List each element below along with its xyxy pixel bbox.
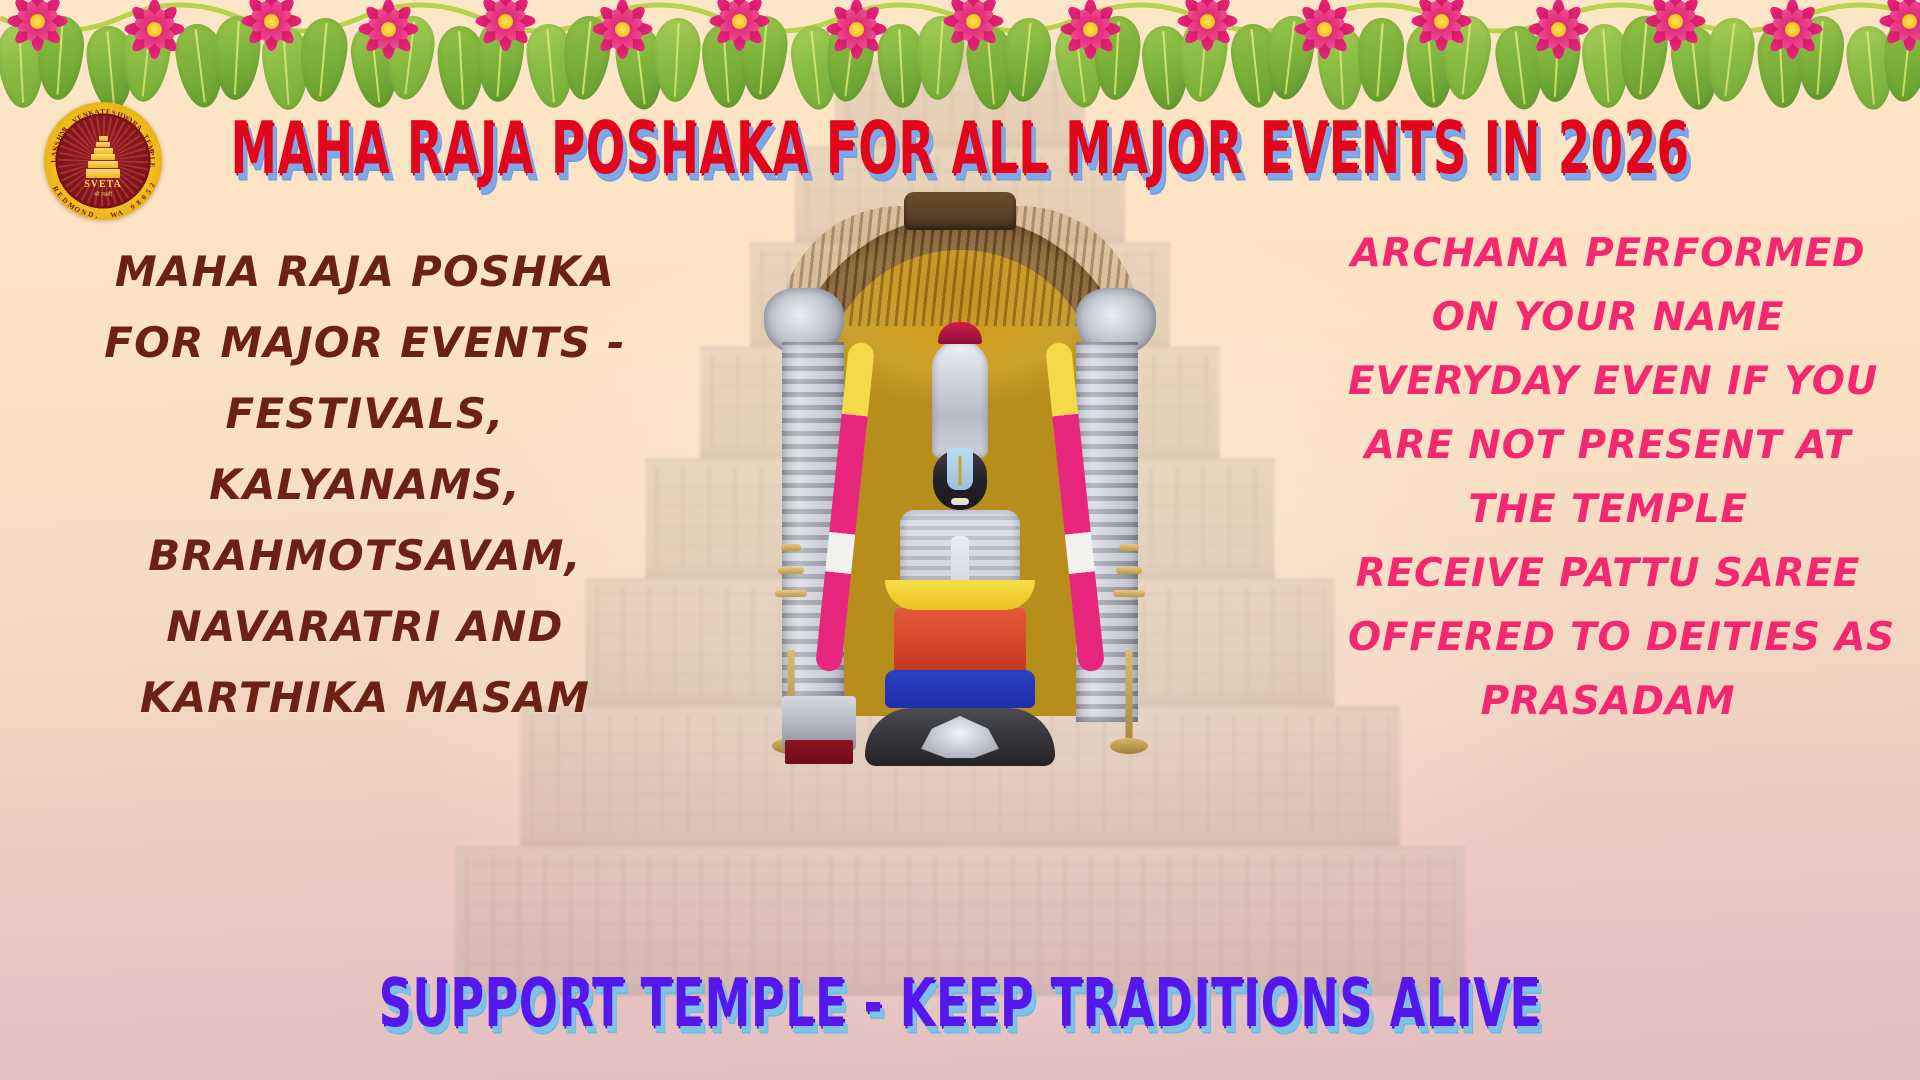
mango-leaf-icon bbox=[1404, 22, 1457, 110]
promotional-banner: LAKSHMI VENKATESHWARA TEMPLE REDMOND, WA… bbox=[0, 0, 1920, 1080]
banner-headline: MAHA RAJA POSHAKA FOR ALL MAJOR EVENTS I… bbox=[115, 112, 1805, 184]
mango-leaf-icon bbox=[652, 17, 702, 103]
idol-blue-cloth bbox=[885, 670, 1035, 708]
mango-leaf-icon bbox=[1756, 23, 1806, 109]
text-line: BRAHMOTSAVAM, bbox=[92, 520, 638, 591]
mango-leaf-icon bbox=[119, 16, 174, 104]
text-line: ARE NOT PRESENT AT bbox=[1348, 414, 1868, 478]
flower-icon bbox=[474, 0, 536, 52]
mango-leaf-icon bbox=[1794, 14, 1846, 101]
mango-leaf-icon bbox=[1140, 24, 1192, 111]
flower-icon bbox=[357, 0, 419, 60]
mango-leaf-icon bbox=[524, 22, 577, 110]
mango-leaf-icon bbox=[260, 24, 312, 111]
flower-icon bbox=[591, 0, 653, 60]
mango-leaf-icon bbox=[700, 22, 752, 109]
text-line: NAVARATRI AND bbox=[92, 591, 638, 662]
mango-leaf-icon bbox=[0, 23, 46, 109]
mango-leaf-icon bbox=[348, 22, 403, 110]
mango-leaf-icon bbox=[1439, 14, 1494, 102]
mango-leaf-icon bbox=[1177, 16, 1230, 104]
flower-icon bbox=[1410, 0, 1472, 52]
text-line: PRASADAM bbox=[1348, 670, 1868, 734]
mango-leaf-icon bbox=[999, 16, 1054, 104]
mango-leaf-icon bbox=[822, 15, 878, 104]
flower-icon bbox=[1293, 0, 1355, 60]
garland-string-icon bbox=[0, 0, 1920, 46]
text-line: MAHA RAJA POSHKA bbox=[92, 236, 638, 307]
mango-leaf-icon bbox=[84, 24, 137, 112]
mango-leaf-icon bbox=[559, 14, 614, 102]
silver-offering-box bbox=[782, 696, 856, 750]
mango-leaf-icon bbox=[34, 14, 86, 101]
mango-leaf-icon bbox=[1228, 22, 1283, 110]
text-line: ON YOUR NAME bbox=[1348, 286, 1868, 350]
mango-leaf-icon bbox=[1492, 23, 1548, 112]
left-text-block: MAHA RAJA POSHKAFOR MAJOR EVENTS -FESTIV… bbox=[92, 236, 638, 733]
mango-leaf-icon bbox=[1316, 25, 1366, 111]
mango-leaf-icon bbox=[1580, 22, 1632, 109]
banner-slogan: SUPPORT TEMPLE - KEEP TRADITIONS ALIVE bbox=[96, 971, 1824, 1038]
idol-namam-icon bbox=[947, 448, 973, 490]
mango-leaf-icon bbox=[172, 21, 228, 110]
arch-crown-ornament bbox=[904, 192, 1016, 230]
flower-icon bbox=[123, 0, 185, 60]
flower-icon bbox=[240, 0, 302, 52]
mango-leaf-icon bbox=[1052, 21, 1108, 110]
mango-leaf-icon bbox=[382, 13, 438, 102]
idol-red-dhoti bbox=[894, 608, 1026, 674]
mango-leaf-icon bbox=[474, 16, 526, 103]
mango-leaf-icon bbox=[1879, 16, 1920, 104]
text-line: ARCHANA PERFORMED bbox=[1348, 222, 1868, 286]
text-line: KALYANAMS, bbox=[92, 449, 638, 520]
mango-leaf-icon bbox=[1668, 24, 1723, 112]
mango-leaf-icon bbox=[1262, 13, 1318, 102]
temple-logo-seal[interactable]: LAKSHMI VENKATESHWARA TEMPLE REDMOND, WA… bbox=[44, 102, 162, 220]
flower-icon bbox=[1527, 0, 1589, 60]
text-line: OFFERED TO DEITIES AS bbox=[1348, 606, 1868, 670]
mango-leaf-icon bbox=[1617, 14, 1670, 102]
mango-leaf-icon bbox=[788, 24, 843, 112]
mango-leaf-icon bbox=[914, 14, 966, 101]
mango-leaf-icon bbox=[737, 14, 790, 102]
text-line: FOR MAJOR EVENTS - bbox=[92, 307, 638, 378]
oil-lamp-right bbox=[1112, 544, 1146, 754]
flower-icon bbox=[1761, 0, 1823, 60]
logo-inner-disc: SVETA श्री लक्ष्मी bbox=[58, 116, 148, 206]
logo-center-subtext: श्री लक्ष्मी bbox=[58, 193, 148, 199]
mango-leaf-icon bbox=[876, 23, 926, 109]
mango-leaf-icon bbox=[1532, 17, 1582, 103]
mango-leaf-icon bbox=[212, 15, 262, 101]
flower-icon bbox=[1878, 0, 1920, 52]
flower-icon bbox=[825, 0, 887, 60]
text-line: KARTHIKA MASAM bbox=[92, 662, 638, 733]
mango-leaf-icon bbox=[1092, 15, 1142, 101]
mango-leaf-icon bbox=[436, 25, 486, 111]
text-line: EVERYDAY EVEN IF YOU bbox=[1348, 350, 1868, 414]
deity-photo bbox=[760, 192, 1160, 772]
flower-icon bbox=[6, 0, 68, 52]
idol-crown bbox=[932, 340, 988, 458]
garuda-vahana-base bbox=[865, 708, 1055, 766]
flower-icon bbox=[708, 0, 770, 52]
right-text-block: ARCHANA PERFORMEDON YOUR NAMEEVERYDAY EV… bbox=[1348, 222, 1868, 734]
mango-leaf-icon bbox=[1702, 15, 1758, 104]
mango-leaf-icon bbox=[612, 23, 668, 112]
flower-icon bbox=[1644, 0, 1706, 52]
logo-center-text: SVETA bbox=[58, 180, 148, 190]
toran-garland-border bbox=[0, 0, 1920, 92]
mango-leaf-icon bbox=[1354, 16, 1406, 103]
mango-leaf-icon bbox=[1844, 24, 1897, 112]
mango-leaf-icon bbox=[297, 16, 350, 104]
flower-icon bbox=[942, 0, 1004, 52]
text-line: THE TEMPLE bbox=[1348, 478, 1868, 542]
idol-lips bbox=[951, 498, 969, 505]
flower-icon bbox=[1059, 0, 1121, 60]
text-line: RECEIVE PATTU SAREE bbox=[1348, 542, 1868, 606]
mango-leaf-icon bbox=[964, 24, 1017, 112]
venkateswara-idol bbox=[896, 340, 1024, 712]
text-line: FESTIVALS, bbox=[92, 378, 638, 449]
flower-icon bbox=[1176, 0, 1238, 52]
logo-gopuram-icon bbox=[86, 136, 120, 182]
yellow-flower-garland bbox=[885, 580, 1035, 610]
